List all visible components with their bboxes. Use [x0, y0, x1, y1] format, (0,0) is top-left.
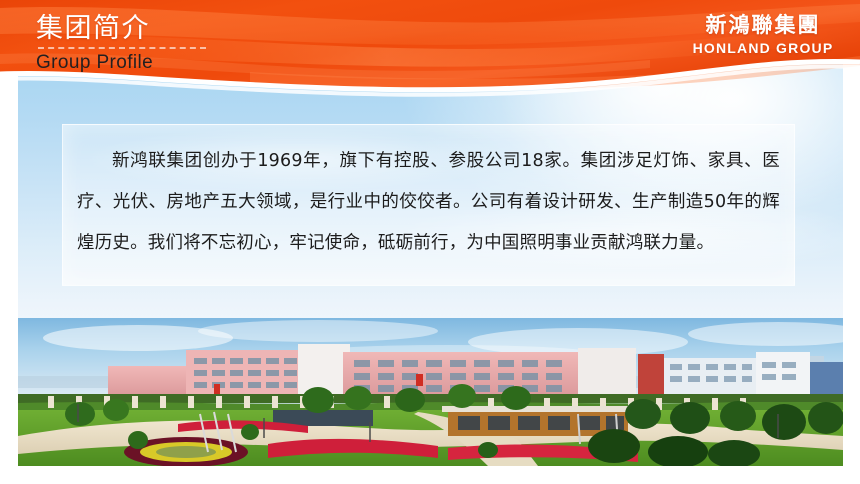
- page-title-cn: 集团简介: [36, 12, 366, 45]
- slide-root: 集团简介 Group Profile 新鴻聯集團 HONLAND GROUP 新…: [0, 0, 860, 484]
- title-divider: [38, 47, 206, 49]
- brand-name-cn: 新鴻聯集團: [688, 14, 838, 38]
- campus-photo: [18, 318, 843, 466]
- content-box: 新鸿联集团创办于1969年，旗下有控股、参股公司18家。集团涉足灯饰、家具、医疗…: [62, 124, 795, 286]
- page-title-en: Group Profile: [36, 51, 366, 75]
- campus-photo-graphic: [18, 318, 843, 466]
- brand-logo: 新鴻聯集團 HONLAND GROUP: [688, 14, 838, 57]
- brand-name-en: HONLAND GROUP: [688, 39, 838, 57]
- header-title-group: 集团简介 Group Profile: [36, 12, 366, 75]
- profile-paragraph: 新鸿联集团创办于1969年，旗下有控股、参股公司18家。集团涉足灯饰、家具、医疗…: [77, 141, 780, 264]
